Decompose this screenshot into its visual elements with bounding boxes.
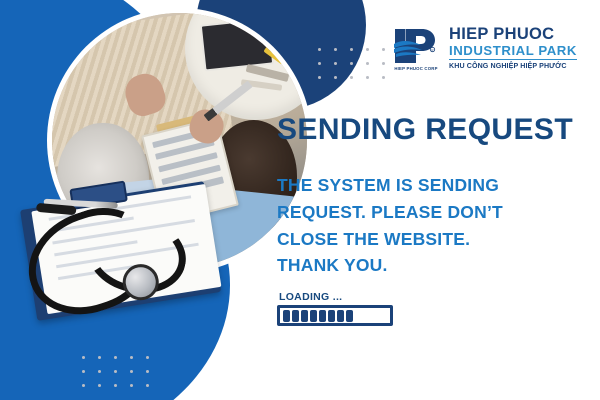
status-message-line-3: CLOSE THE WEBSITE.	[277, 226, 503, 253]
photo-tablet-device	[200, 17, 275, 71]
progress-block	[301, 310, 308, 322]
progress-block	[346, 310, 353, 322]
dot-grid-top	[318, 48, 385, 79]
page-title: SENDING REQUEST	[277, 113, 573, 147]
hp-monogram-icon: R HIEP PHUOC CORP	[392, 26, 440, 70]
loading-label: LOADING ...	[279, 291, 342, 303]
brand-name-line3: KHU CÔNG NGHIỆP HIỆP PHƯỚC	[449, 63, 577, 70]
logo-corp-caption: HIEP PHUOC CORP	[392, 66, 440, 71]
progress-block	[319, 310, 326, 322]
dot-grid-bottom	[82, 356, 149, 387]
progress-block	[283, 310, 290, 322]
brand-name-line2: INDUSTRIAL PARK	[449, 44, 577, 60]
brand-logo-text: HIEP PHUOC INDUSTRIAL PARK KHU CÔNG NGHI…	[449, 26, 577, 69]
brand-name-line1: HIEP PHUOC	[449, 26, 577, 43]
loading-progress-bar	[277, 305, 393, 326]
brand-logo: R HIEP PHUOC CORP HIEP PHUOC INDUSTRIAL …	[392, 26, 577, 70]
progress-block	[310, 310, 317, 322]
loading-screen: R HIEP PHUOC CORP HIEP PHUOC INDUSTRIAL …	[0, 0, 600, 400]
status-message-line-4: THANK YOU.	[277, 252, 503, 279]
progress-block	[292, 310, 299, 322]
status-message: THE SYSTEM IS SENDING REQUEST. PLEASE DO…	[277, 172, 503, 279]
progress-block	[328, 310, 335, 322]
progress-block	[337, 310, 344, 322]
status-message-line-2: REQUEST. PLEASE DON’T	[277, 199, 503, 226]
status-message-line-1: THE SYSTEM IS SENDING	[277, 172, 503, 199]
